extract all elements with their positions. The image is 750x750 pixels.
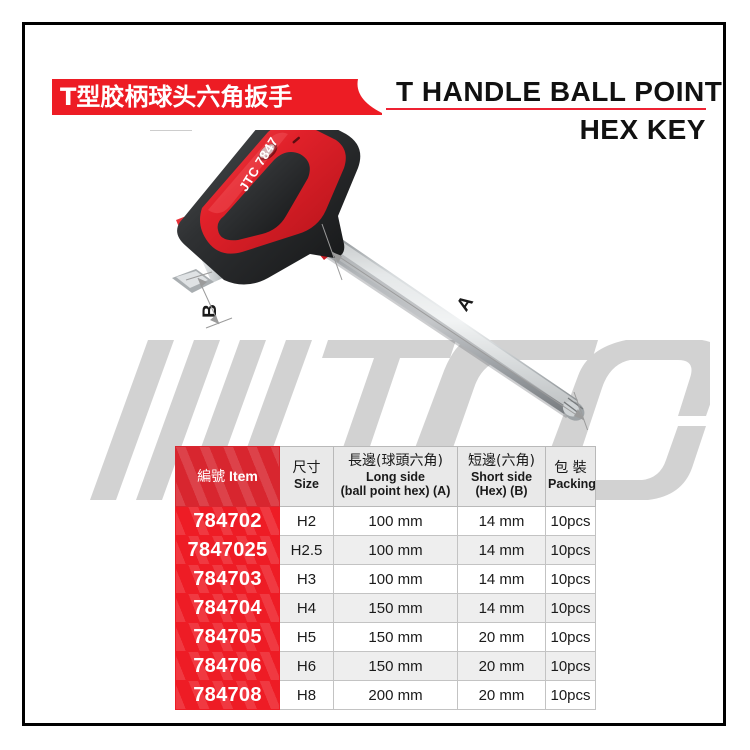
cell-packing: 10pcs — [546, 594, 596, 623]
cell-item: 784708 — [176, 681, 280, 710]
table-row: 784704H4150 mm14 mm10pcs — [176, 594, 596, 623]
cell-long: 150 mm — [334, 652, 458, 681]
page-title-en-line2: HEX KEY — [580, 114, 706, 146]
cell-size: H6 — [280, 652, 334, 681]
cell-item-value: 784708 — [193, 684, 262, 706]
table-body: 784702H2100 mm14 mm10pcs7847025H2.5100 m… — [176, 507, 596, 710]
cell-short: 14 mm — [458, 507, 546, 536]
col-header-item-en: Item — [229, 468, 258, 484]
cell-long: 100 mm — [334, 565, 458, 594]
col-header-item-cn: 編號 — [197, 469, 225, 485]
dimension-annotations — [150, 130, 630, 430]
cell-size: H4 — [280, 594, 334, 623]
cell-item-value: 784706 — [193, 655, 262, 677]
col-header-packing: 包 裝 Packing — [546, 447, 596, 507]
cell-item: 784702 — [176, 507, 280, 536]
cell-item-value: 784703 — [193, 568, 262, 590]
cell-short: 20 mm — [458, 623, 546, 652]
cell-item-value: 7847025 — [188, 539, 268, 561]
col-header-long-side: 長邊(球頭六角) Long side (ball point hex) (A) — [334, 447, 458, 507]
table-row: 784702H2100 mm14 mm10pcs — [176, 507, 596, 536]
cell-item: 7847025 — [176, 536, 280, 565]
cell-short: 14 mm — [458, 536, 546, 565]
cell-item: 784704 — [176, 594, 280, 623]
cell-long: 200 mm — [334, 681, 458, 710]
dimension-lines-icon — [150, 130, 630, 430]
cell-packing: 10pcs — [546, 507, 596, 536]
cell-long: 150 mm — [334, 594, 458, 623]
cell-item: 784705 — [176, 623, 280, 652]
cell-size: H3 — [280, 565, 334, 594]
cell-item: 784706 — [176, 652, 280, 681]
table-head: 編號 Item 尺寸 Size 長邊(球頭六角) Long side (ball… — [176, 447, 596, 507]
table-row: 784703H3100 mm14 mm10pcs — [176, 565, 596, 594]
cell-long: 100 mm — [334, 507, 458, 536]
cell-packing: 10pcs — [546, 623, 596, 652]
cell-packing: 10pcs — [546, 681, 596, 710]
cn-title-banner: T型胶柄球头六角扳手 — [52, 79, 372, 115]
cell-short: 20 mm — [458, 681, 546, 710]
table-row: 784706H6150 mm20 mm10pcs — [176, 652, 596, 681]
cell-packing: 10pcs — [546, 536, 596, 565]
cell-short: 14 mm — [458, 565, 546, 594]
page-title-en-line1: T HANDLE BALL POINT — [396, 76, 722, 108]
table-row: 784708H8200 mm20 mm10pcs — [176, 681, 596, 710]
cell-packing: 10pcs — [546, 652, 596, 681]
cell-short: 14 mm — [458, 594, 546, 623]
page-header: T型胶柄球头六角扳手 T HANDLE BALL POINT HEX KEY — [0, 0, 750, 150]
cell-item: 784703 — [176, 565, 280, 594]
cell-size: H2.5 — [280, 536, 334, 565]
table-row: 7847025H2.5100 mm14 mm10pcs — [176, 536, 596, 565]
cell-long: 100 mm — [334, 536, 458, 565]
banner-tail-shape-icon — [344, 79, 384, 115]
cell-size: H5 — [280, 623, 334, 652]
page-title-cn: T型胶柄球头六角扳手 — [60, 79, 292, 115]
cell-size: H2 — [280, 507, 334, 536]
col-header-size: 尺寸 Size — [280, 447, 334, 507]
catalog-page: auto tools T型胶柄球头六角扳手 T HANDLE BALL POIN… — [0, 0, 750, 750]
title-underline — [386, 108, 706, 110]
cell-item-value: 784705 — [193, 626, 262, 648]
col-header-item: 編號 Item — [176, 447, 280, 507]
cell-item-value: 784702 — [193, 510, 262, 532]
table-row: 784705H5150 mm20 mm10pcs — [176, 623, 596, 652]
specification-table: 編號 Item 尺寸 Size 長邊(球頭六角) Long side (ball… — [175, 446, 595, 710]
cell-item-value: 784704 — [193, 597, 262, 619]
cell-short: 20 mm — [458, 652, 546, 681]
cell-packing: 10pcs — [546, 565, 596, 594]
spec-table: 編號 Item 尺寸 Size 長邊(球頭六角) Long side (ball… — [175, 446, 596, 710]
cell-long: 150 mm — [334, 623, 458, 652]
table-header-row: 編號 Item 尺寸 Size 長邊(球頭六角) Long side (ball… — [176, 447, 596, 507]
cell-size: H8 — [280, 681, 334, 710]
cn-title-banner-tail — [344, 79, 384, 115]
col-header-short-side: 短邊(六角) Short side (Hex) (B) — [458, 447, 546, 507]
